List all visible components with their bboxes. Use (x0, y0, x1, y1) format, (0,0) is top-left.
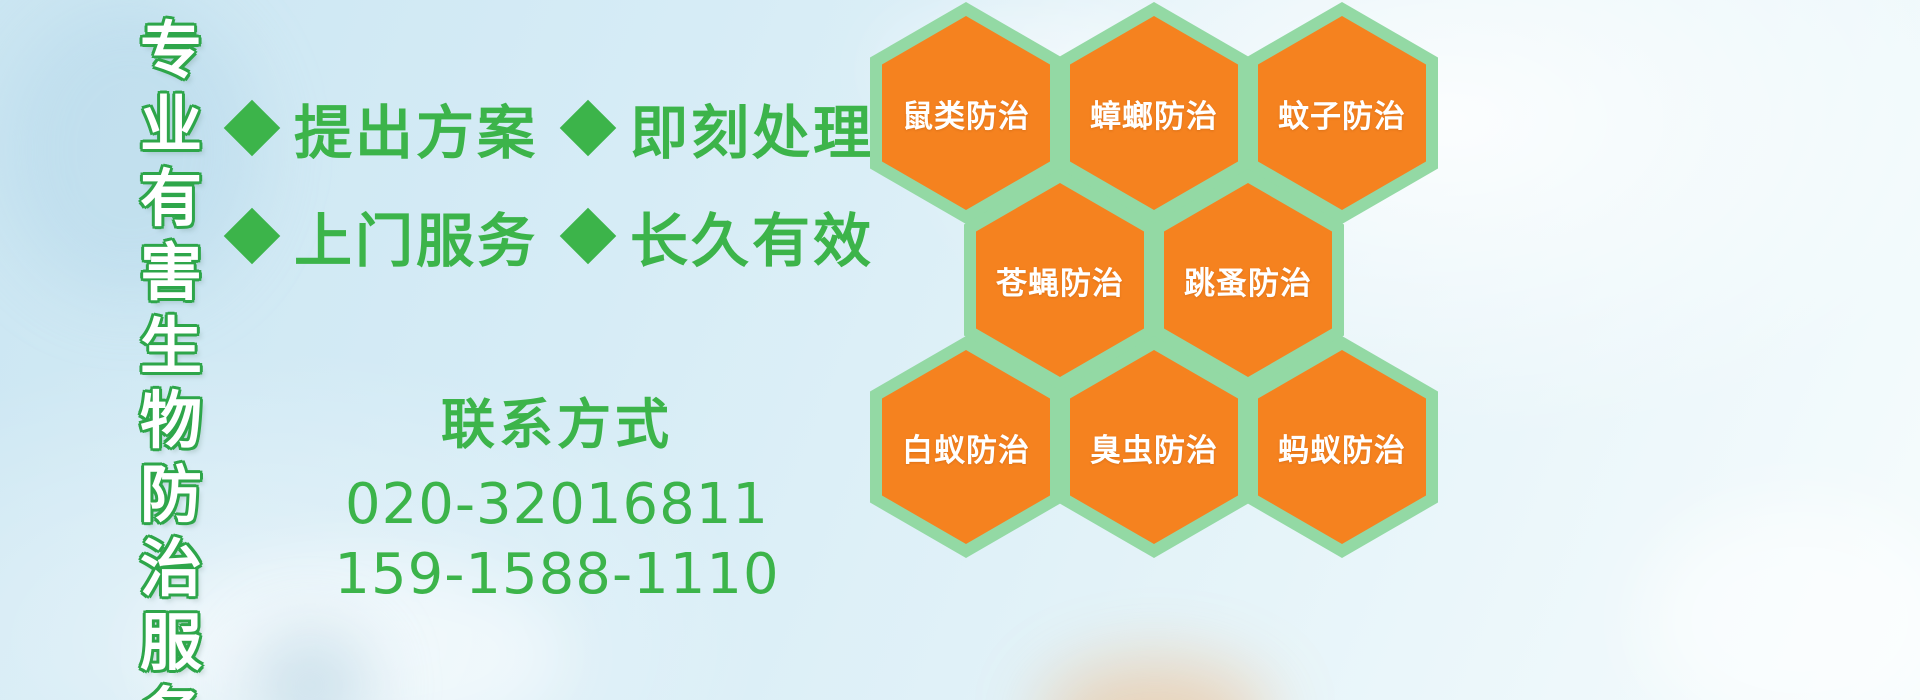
vertical-headline-char: 服 (140, 606, 202, 680)
hex-inner-fill: 跳蚤防治 (1164, 183, 1332, 377)
hex-inner-fill: 蚊子防治 (1258, 16, 1426, 210)
service-hex-label: 苍蝇防治 (996, 258, 1124, 303)
feature-label: 上门服务 (294, 194, 538, 278)
diamond-bullet-icon (560, 208, 617, 265)
vertical-headline: 专 业 有 害 生 物 防 治 服 务 (128, 14, 214, 686)
vertical-headline-char: 治 (140, 532, 202, 606)
feature-label: 即刻处理 (630, 86, 874, 170)
vertical-headline-char: 生 (140, 310, 202, 384)
contact-phone-mobile[interactable]: 159-1588-1110 (318, 540, 796, 610)
vertical-headline-char: 务 (140, 680, 202, 700)
contact-title: 联系方式 (318, 392, 796, 458)
feature-row-2: 上门服务 长久有效 (232, 194, 874, 278)
vertical-headline-char: 有 (140, 162, 202, 236)
service-hex-label: 蚂蚁防治 (1278, 425, 1406, 470)
vertical-headline-char: 害 (140, 236, 202, 310)
diamond-bullet-icon (560, 100, 617, 157)
diamond-bullet-icon (224, 100, 281, 157)
feature-label: 长久有效 (630, 194, 874, 278)
diamond-bullet-icon (224, 208, 281, 265)
hex-inner-fill: 鼠类防治 (882, 16, 1050, 210)
vertical-headline-char: 专 (140, 14, 202, 88)
service-hex-label: 臭虫防治 (1090, 425, 1218, 470)
hex-inner-fill: 苍蝇防治 (976, 183, 1144, 377)
service-hex-label: 蚊子防治 (1278, 91, 1406, 136)
feature-item-long-lasting-effect: 长久有效 (568, 194, 874, 278)
service-hex-label: 鼠类防治 (902, 91, 1030, 136)
feature-item-onsite-service: 上门服务 (232, 194, 568, 278)
service-hex-label: 跳蚤防治 (1184, 258, 1312, 303)
background-blur-blob (250, 630, 370, 700)
hex-inner-fill: 臭虫防治 (1070, 350, 1238, 544)
contact-block: 联系方式 020-32016811 159-1588-1110 (318, 392, 796, 610)
contact-phone-landline[interactable]: 020-32016811 (318, 470, 796, 540)
vertical-headline-char: 防 (140, 458, 202, 532)
feature-item-immediate-handling: 即刻处理 (568, 86, 874, 170)
hex-inner-fill: 白蚁防治 (882, 350, 1050, 544)
feature-item-propose-plan: 提出方案 (232, 86, 568, 170)
background-blur-blob (1640, 500, 1920, 700)
feature-row-1: 提出方案 即刻处理 (232, 86, 874, 170)
service-honeycomb-grid: 鼠类防治 蟑螂防治 蚊子防治 苍蝇防治 跳蚤防治 白蚁防治 (862, 0, 1462, 570)
feature-label: 提出方案 (294, 86, 538, 170)
background-blur-blob (1040, 660, 1270, 700)
vertical-headline-char: 物 (140, 384, 202, 458)
pest-control-service-banner: 专 业 有 害 生 物 防 治 服 务 提出方案 即刻处理 上门服务 长久有效 (0, 0, 1920, 700)
hex-inner-fill: 蚂蚁防治 (1258, 350, 1426, 544)
vertical-headline-char: 业 (140, 88, 202, 162)
service-hex-label: 白蚁防治 (902, 425, 1030, 470)
hex-inner-fill: 蟑螂防治 (1070, 16, 1238, 210)
service-hex-label: 蟑螂防治 (1090, 91, 1218, 136)
